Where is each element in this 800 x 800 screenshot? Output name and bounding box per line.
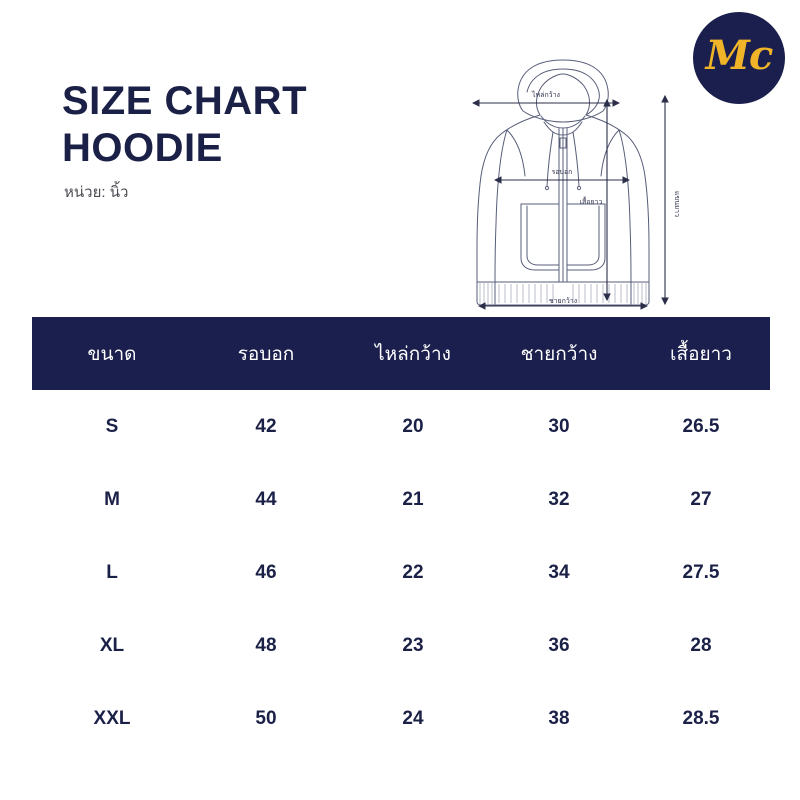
column-header-hem-width: ชายกว้าง [486,317,632,390]
cell-size: M [32,463,192,536]
table-row: S 42 20 30 26.5 [32,390,770,463]
hoodie-diagram: ไหล่กว้าง รอบอก เสื้อยาว แขนยาว ชายกว้าง [443,52,683,310]
cell-hem-width: 36 [486,609,632,682]
cell-hem-width: 34 [486,536,632,609]
cell-size: XL [32,609,192,682]
cell-shoulder: 23 [340,609,486,682]
cell-body-length: 28 [632,609,770,682]
page-title: SIZE CHART HOODIE [62,78,442,172]
cell-body-length: 27 [632,463,770,536]
cell-hem-width: 38 [486,682,632,755]
cell-size: XXL [32,682,192,755]
cell-size: S [32,390,192,463]
column-header-size: ขนาด [32,317,192,390]
cell-shoulder: 21 [340,463,486,536]
label-hem-width: ชายกว้าง [549,297,577,305]
cell-chest: 46 [192,536,340,609]
brand-logo: Mc [693,12,785,104]
cell-hem-width: 32 [486,463,632,536]
cell-shoulder: 24 [340,682,486,755]
size-chart-table: ขนาด รอบอก ไหล่กว้าง ชายกว้าง เสื้อยาว S… [32,317,770,755]
heading-block: SIZE CHART HOODIE หน่วย: นิ้ว [62,78,442,204]
brand-logo-text: Mc [706,36,773,76]
label-body-length: เสื้อยาว [580,195,603,206]
cell-size: L [32,536,192,609]
table-header-row: ขนาด รอบอก ไหล่กว้าง ชายกว้าง เสื้อยาว [32,317,770,390]
column-header-body-length: เสื้อยาว [632,317,770,390]
cell-body-length: 26.5 [632,390,770,463]
label-sleeve-length: แขนยาว [673,191,680,217]
cell-chest: 50 [192,682,340,755]
column-header-chest: รอบอก [192,317,340,390]
cell-body-length: 27.5 [632,536,770,609]
label-chest: รอบอก [552,169,573,176]
label-shoulder: ไหล่กว้าง [531,90,560,99]
cell-chest: 44 [192,463,340,536]
cell-hem-width: 30 [486,390,632,463]
table-row: M 44 21 32 27 [32,463,770,536]
table-row: XXL 50 24 38 28.5 [32,682,770,755]
table-row: L 46 22 34 27.5 [32,536,770,609]
table-row: XL 48 23 36 28 [32,609,770,682]
cell-shoulder: 22 [340,536,486,609]
cell-chest: 42 [192,390,340,463]
hoodie-outline [477,60,649,305]
cell-body-length: 28.5 [632,682,770,755]
column-header-shoulder: ไหล่กว้าง [340,317,486,390]
cell-shoulder: 20 [340,390,486,463]
unit-subtitle: หน่วย: นิ้ว [64,180,442,204]
cell-chest: 48 [192,609,340,682]
